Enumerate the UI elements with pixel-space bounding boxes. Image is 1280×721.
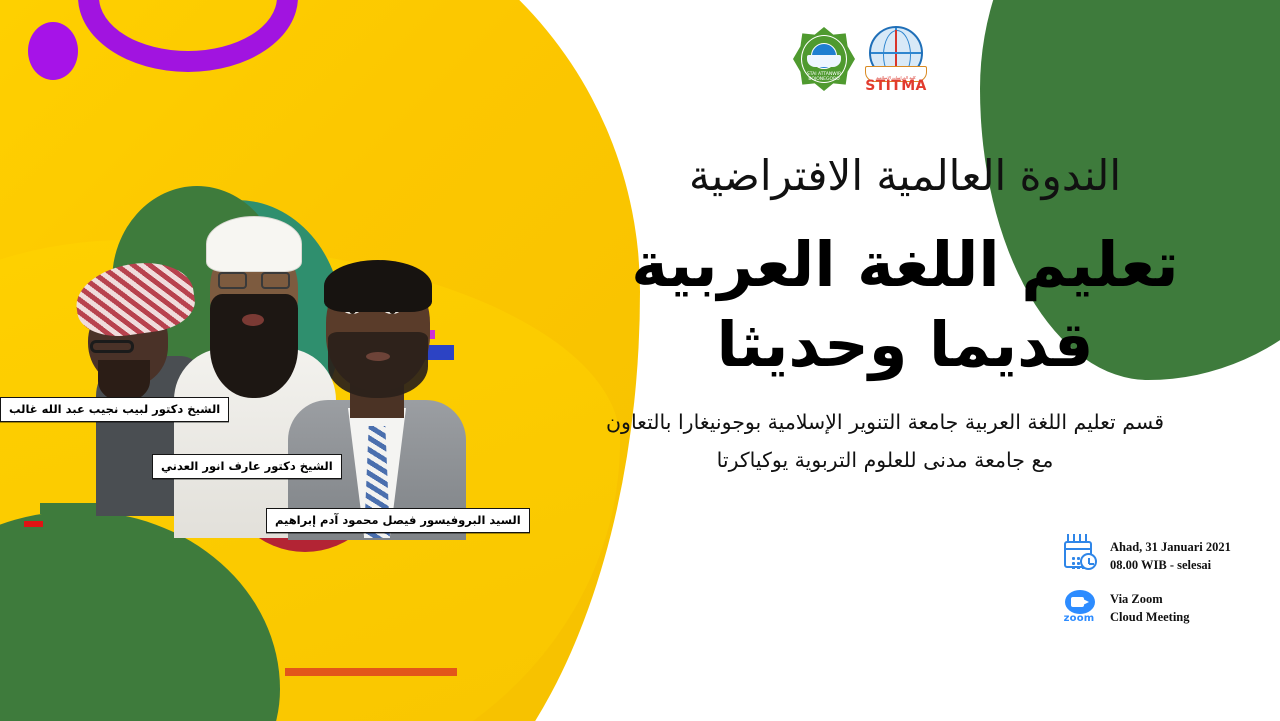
speaker-2-mouth <box>242 314 264 326</box>
purple-dot-shape <box>28 22 78 80</box>
clock-icon <box>1080 553 1097 570</box>
event-title: تعليم اللغة العربية قديما وحديثا <box>560 225 1250 386</box>
speaker-nameplate-2: الشيخ دكتور عارف انور العدني <box>152 454 342 479</box>
badge-caption: STAI ATTANWIR BOJONEGORO <box>793 72 855 82</box>
organizer-subtitle-line-1: قسم تعليم اللغة العربية جامعة التنوير ال… <box>600 404 1170 442</box>
organizer-subtitle-line-2: مع جامعة مدنى للعلوم التربوية يوكياكرتا <box>600 442 1170 480</box>
orange-bar-shape <box>285 668 457 676</box>
calendar-rings <box>1067 534 1089 541</box>
event-time: 08.00 WIB - selesai <box>1110 556 1231 574</box>
stitma-wordmark: STITMA <box>863 78 929 94</box>
poster-canvas: الشيخ دكتور لبيب نجيب عبد الله غالب الشي… <box>0 0 1280 721</box>
zoom-camera-icon <box>1065 590 1095 614</box>
zoom-wordmark: zoom <box>1060 613 1098 624</box>
event-datetime-text: Ahad, 31 Januari 2021 08.00 WIB - selesa… <box>1110 538 1231 574</box>
event-platform-text: Via Zoom Cloud Meeting <box>1110 590 1190 626</box>
organizer-subtitle: قسم تعليم اللغة العربية جامعة التنوير ال… <box>600 404 1170 480</box>
speaker-3-beard <box>328 332 428 398</box>
zoom-camera-glyph <box>1065 590 1095 614</box>
event-datetime-row: Ahad, 31 Januari 2021 08.00 WIB - selesa… <box>1063 538 1273 574</box>
event-kicker: الندوة العالمية الافتراضية <box>560 150 1250 203</box>
event-platform-row: zoom Via Zoom Cloud Meeting <box>1063 590 1273 626</box>
speaker-2-beard <box>210 294 298 398</box>
speaker-photo-3 <box>288 248 466 538</box>
speaker-3-hair <box>324 260 432 312</box>
zoom-icon: zoom <box>1063 590 1099 626</box>
speaker-photo-collage <box>60 190 460 535</box>
speaker-nameplate-1: الشيخ دكتور لبيب نجيب عبد الله غالب <box>0 397 229 422</box>
event-info-block: Ahad, 31 Januari 2021 08.00 WIB - selesa… <box>1063 538 1273 643</box>
red-dash-shape <box>24 521 43 527</box>
calendar-clock-icon <box>1063 538 1099 574</box>
badge-book-icon <box>807 55 841 67</box>
speaker-1-glasses <box>90 340 134 353</box>
event-date: Ahad, 31 Januari 2021 <box>1110 538 1231 556</box>
speaker-2-glasses <box>218 272 290 289</box>
headline-block: الندوة العالمية الافتراضية تعليم اللغة ا… <box>560 150 1250 386</box>
speaker-nameplate-3: السيد البروفيسور فيصل محمود آدم إبراهيم <box>266 508 530 533</box>
platform-name: Via Zoom <box>1110 590 1190 608</box>
stai-attanwir-logo-icon: STAI ATTANWIR BOJONEGORO <box>793 27 855 91</box>
logo-bar: STAI ATTANWIR BOJONEGORO كلية الدراسات ا… <box>793 24 933 94</box>
speaker-3-mouth <box>366 352 390 361</box>
star-badge-shape: STAI ATTANWIR BOJONEGORO <box>793 27 855 91</box>
speaker-1-beard <box>98 360 150 402</box>
platform-subtitle: Cloud Meeting <box>1110 608 1190 626</box>
stitma-logo-icon: كلية الدراسات الإسلامية STITMA <box>863 26 929 92</box>
